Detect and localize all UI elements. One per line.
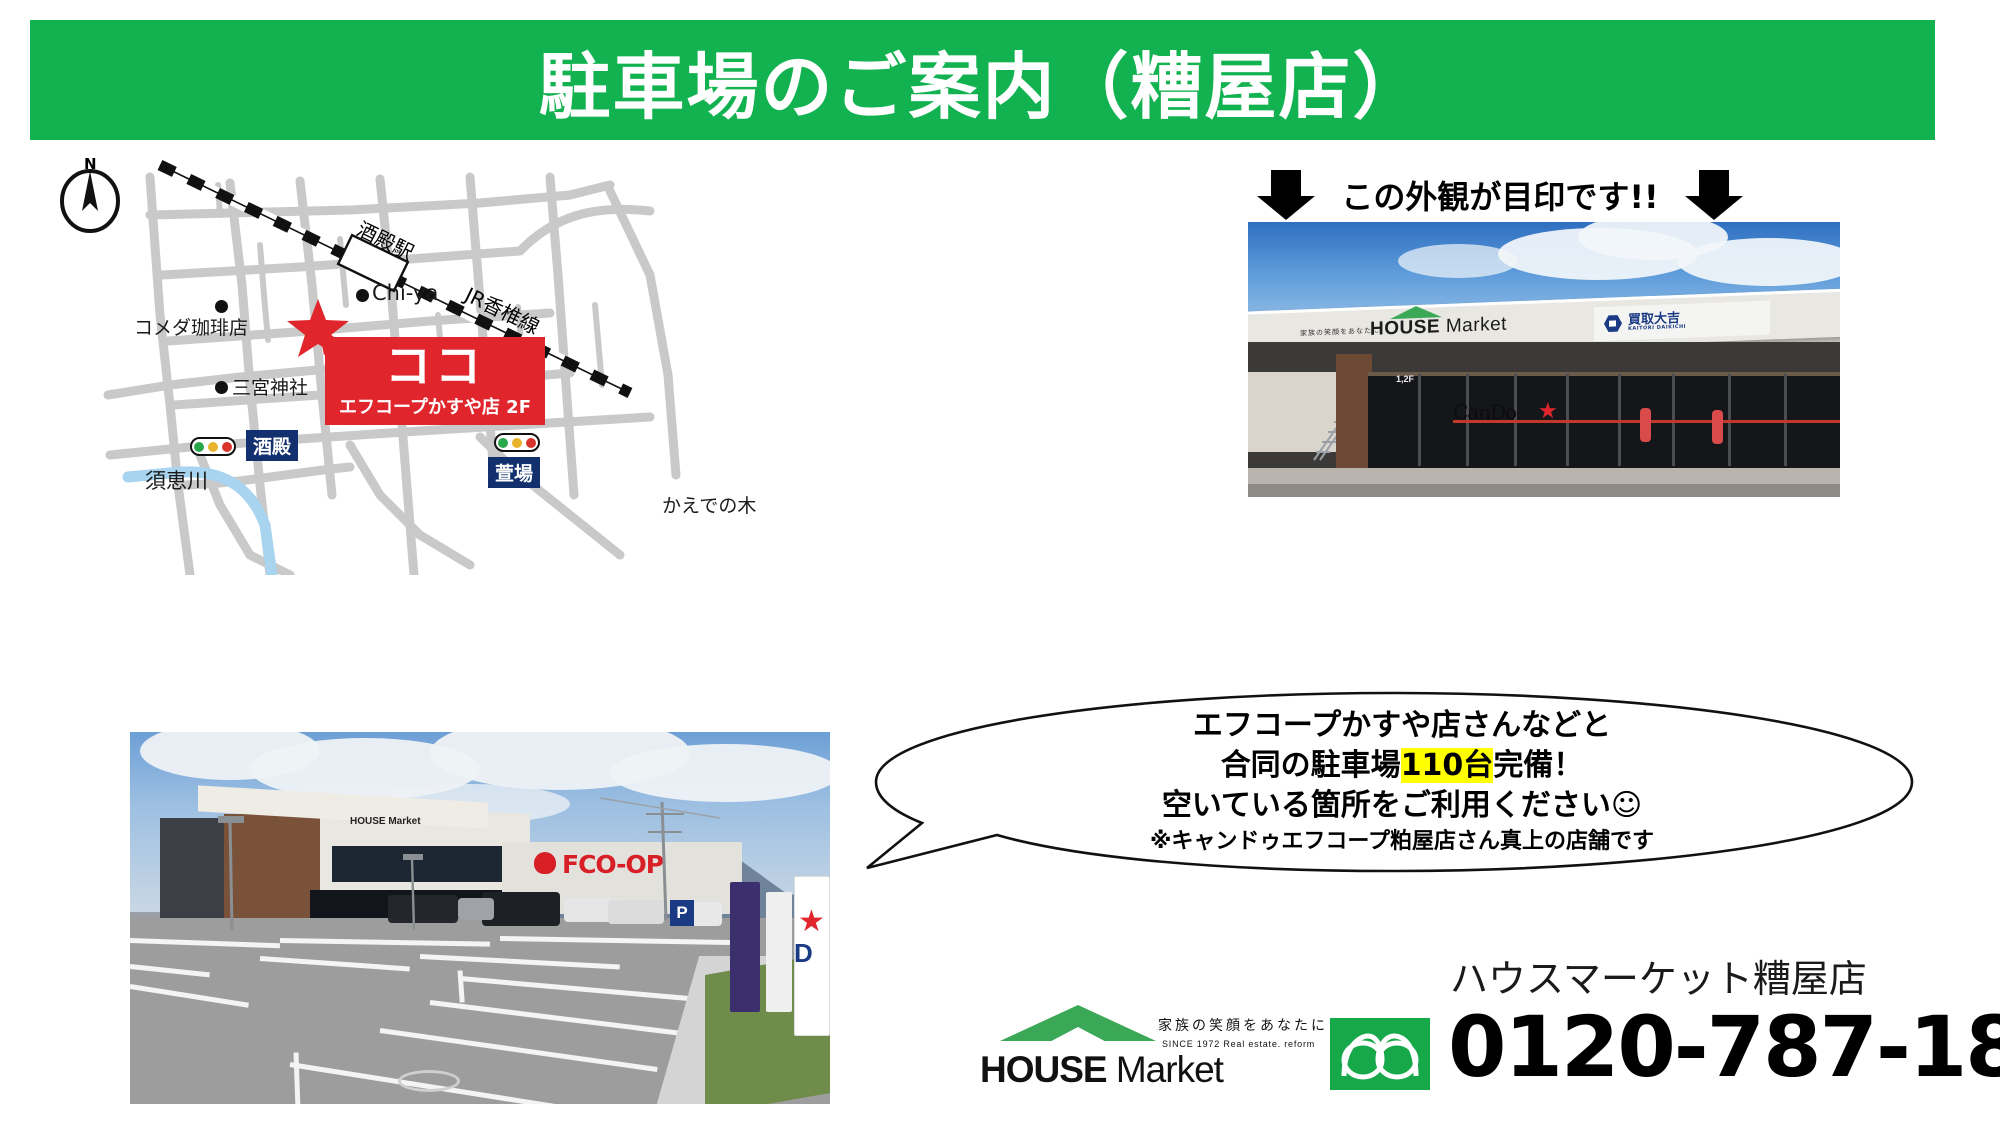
map-dot-sannomiya [215, 381, 228, 394]
here-callout-main: ココ [385, 343, 485, 389]
manhole-cover [398, 1070, 460, 1092]
map-label-chiya: Chi-ya [372, 281, 438, 305]
logo-slogan: 家族の笑顔をあなたに [1158, 1015, 1328, 1035]
building-sign-label: HOUSE Market [350, 816, 421, 827]
map-label-kaede: かえでの木 [662, 491, 756, 518]
parking-lot-photo: HOUSE Market FCO-OP P ★ D [130, 732, 830, 1104]
here-callout-sub: エフコープかすや店 2F [339, 393, 531, 419]
photo-column [1336, 354, 1372, 480]
map-label-sannomiya: 三宮神社 [232, 373, 308, 400]
interior-figure [1712, 410, 1723, 444]
down-arrow-icon-right [1683, 168, 1745, 222]
page-title: 駐車場のご案内（糟屋店） [538, 28, 1426, 133]
promo-banner [766, 892, 792, 1012]
promo-banner [730, 882, 760, 1012]
map-dot-chiya [356, 289, 369, 302]
here-callout-box: ココ エフコープかすや店 2F [325, 337, 545, 425]
bubble-line-4: ※キャンドゥエフコープ粕屋店さん真上の店舗です [982, 828, 1822, 857]
star-icon: ★ [798, 904, 825, 939]
map-label-komeda: コメダ珈琲店 [134, 313, 248, 340]
apple-icon [534, 852, 556, 874]
building-sign-slogan: 家族の笑顔をあなたに [1300, 325, 1380, 338]
shop-name-label: ハウスマーケット糟屋店 [1450, 948, 1867, 1003]
mullion [1418, 374, 1421, 466]
tenant-sign-jp: 買取大吉KAITORI DAIKICHI [1628, 312, 1686, 332]
location-map: N コメダ珈琲店 Chi-ya 三宮神社 酒殿駅 JR香椎線 かえでの木 須恵川… [50, 155, 690, 575]
light-pole [398, 852, 428, 932]
landmark-arrow-row: この外観が目印です!! [1180, 165, 1820, 225]
landmark-caption: この外観が目印です!! [1341, 172, 1658, 218]
bubble-line-3: 空いている箇所をご利用ください☺ [982, 786, 1822, 826]
compass-north-label: N [84, 155, 97, 173]
title-banner: 駐車場のご案内（糟屋店） [30, 20, 1935, 140]
kaitori-hex-icon [1604, 314, 1622, 333]
compass-rose: N [58, 157, 122, 233]
tenant-sign-kaitori: 買取大吉KAITORI DAIKICHI [1594, 301, 1770, 342]
freedial-icon [1330, 1018, 1430, 1090]
floor-tag: 1,2F [1396, 374, 1414, 384]
banner-text: D [794, 938, 813, 969]
capacity-highlight: 110台 [1401, 748, 1494, 783]
photo-road [1248, 484, 1840, 497]
down-arrow-icon-left [1255, 168, 1317, 222]
map-dot-komeda [215, 300, 228, 313]
bubble-line-1: エフコープかすや店さんなどと [982, 706, 1822, 746]
phone-number[interactable]: 0120-787-188 [1448, 998, 2000, 1096]
logo-wordmark: HOUSE Market [980, 1049, 1223, 1091]
light-pole [210, 812, 250, 932]
building-sign-brand: HOUSE Market [1370, 314, 1507, 341]
interior-figure [1640, 408, 1651, 442]
parked-car [458, 898, 494, 920]
bubble-line-2: 合同の駐車場110台完備！ [982, 746, 1822, 786]
intersection-tag-sakado: 酒殿 [246, 430, 298, 461]
intersection-tag-kayaba: 萱場 [488, 457, 540, 488]
bubble-text-block: エフコープかすや店さんなどと 合同の駐車場110台完備！ 空いている箇所をご利用… [982, 706, 1822, 856]
cloud [1398, 244, 1518, 278]
logo-since-line: SINCE 1972 Real estate. reform [1162, 1039, 1315, 1049]
traffic-signal-icon-2 [494, 433, 540, 452]
storefront-photo: 家族の笑顔をあなたに HOUSE Market 買取大吉KAITORI DAIK… [1248, 222, 1840, 497]
logo-roof-cut [1040, 1027, 1116, 1047]
map-label-river: 須恵川 [145, 465, 208, 495]
house-market-logo: 家族の笑顔をあなたに SINCE 1972 Real estate. refor… [980, 1005, 1250, 1085]
info-speech-bubble: エフコープかすや店さんなどと 合同の駐車場110台完備！ 空いている箇所をご利用… [862, 690, 1922, 875]
utility-pole [600, 792, 720, 922]
traffic-signal-icon-1 [190, 437, 236, 456]
